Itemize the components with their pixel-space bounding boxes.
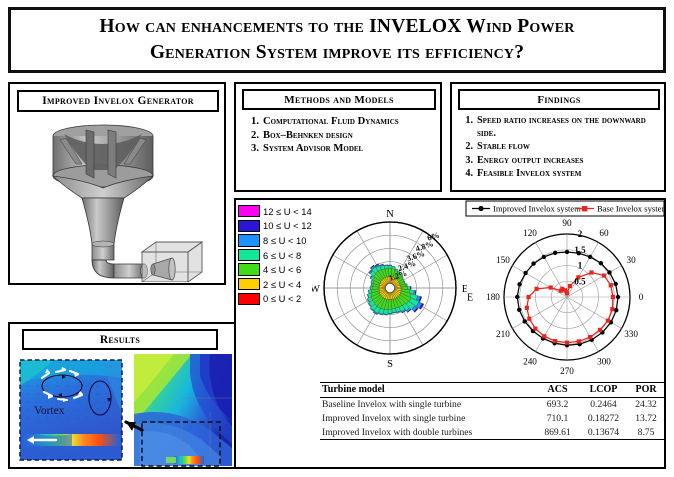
list-item: 1. Speed ratio increases on the downward… — [460, 114, 658, 140]
col-header-por: POR — [628, 383, 664, 398]
legend-swatch — [238, 234, 260, 246]
poster-root: How can enhancements to the INVELOX Wind… — [0, 0, 674, 477]
polar-marker — [515, 295, 519, 299]
polar-marker — [599, 261, 603, 265]
polar-marker — [553, 339, 557, 343]
polar-line-base — [527, 273, 613, 343]
results-table-wrapper: Turbine model ACS LCOP POR Baseline Inve… — [320, 382, 664, 466]
polar-marker — [525, 306, 529, 310]
polar-speed-ratio-chart: Improved Invelox systemBase Invelox syst… — [464, 200, 666, 375]
polar-marker — [542, 255, 546, 259]
polar-radial-label: 1.5 — [574, 245, 586, 255]
polar-marker — [533, 327, 537, 331]
title-panel: How can enhancements to the INVELOX Wind… — [8, 7, 666, 73]
item-text: Speed ratio increases on the downward si… — [477, 114, 658, 140]
polar-marker — [606, 319, 610, 323]
polar-marker — [549, 285, 553, 289]
polar-angle-label: 240 — [523, 356, 537, 366]
polar-east-label: E — [467, 292, 473, 303]
polar-angle-label: 60 — [599, 228, 609, 238]
legend-label: 10 ≤ U < 12 — [263, 220, 312, 231]
list-item: 3. System Advisor Model — [246, 142, 434, 156]
polar-angle-label: 150 — [496, 255, 510, 265]
legend-label: 12 ≤ U < 14 — [263, 206, 312, 217]
polar-radial-label: 1 — [578, 261, 583, 271]
findings-panel: Findings 1. Speed ratio increases on the… — [450, 82, 666, 192]
item-number: 1. — [460, 114, 473, 127]
item-number: 1. — [246, 115, 259, 129]
polar-marker — [517, 282, 521, 286]
polar-marker — [610, 307, 614, 311]
polar-angle-label: 30 — [626, 255, 636, 265]
wind-rose-chart: NESW1.2%2.4%3.6%4.8%6% — [312, 202, 467, 372]
polar-angle-label: 330 — [624, 329, 638, 339]
polar-marker — [609, 283, 613, 287]
results-heading-box: Results — [22, 329, 218, 350]
polar-marker — [523, 271, 527, 275]
polar-marker — [598, 328, 602, 332]
compass-label-s: S — [387, 359, 393, 370]
cell-acs: 869.61 — [536, 425, 579, 439]
cell-lcop: 0.2464 — [579, 397, 628, 411]
invelox-3d-model-figure — [20, 114, 218, 282]
title-line-1: How can enhancements to the INVELOX Wind… — [99, 14, 574, 40]
polar-angle-label: 180 — [486, 292, 500, 302]
item-number: 2. — [246, 129, 259, 143]
polar-marker — [588, 255, 592, 259]
legend-label-improved: Improved Invelox system — [493, 204, 581, 214]
legend-label: 0 ≤ U < 2 — [263, 293, 301, 304]
polar-radial-label: 0.5 — [574, 276, 586, 286]
polar-marker — [565, 250, 569, 254]
item-number: 3. — [460, 154, 473, 167]
methods-panel: Methods and Models 1. Computational Flui… — [234, 82, 442, 192]
item-text: Computational Fluid Dynamics — [263, 115, 399, 129]
cfd-vortex-detail: Vortex — [20, 360, 122, 460]
polar-angle-label: 210 — [496, 329, 510, 339]
list-item: 3. Energy output increases — [460, 154, 658, 167]
polar-angle-label: 90 — [562, 218, 572, 228]
polar-marker — [559, 289, 563, 293]
polar-marker — [616, 295, 620, 299]
polar-marker — [553, 251, 557, 255]
compass-label-n: N — [386, 209, 394, 220]
polar-legend: Improved Invelox systemBase Invelox syst… — [466, 201, 666, 216]
cell-por: 8.75 — [628, 425, 664, 439]
polar-marker — [614, 308, 618, 312]
polar-marker — [517, 308, 521, 312]
cell-por: 13.72 — [628, 412, 664, 426]
cell-por: 24.32 — [628, 397, 664, 411]
item-number: 2. — [460, 140, 473, 153]
polar-angle-label: 0 — [639, 292, 644, 302]
legend-label: 6 ≤ U < 8 — [263, 250, 301, 261]
item-text: System Advisor Model — [263, 142, 363, 156]
cell-acs: 693.2 — [536, 397, 579, 411]
cell-lcop: 0.18272 — [579, 412, 628, 426]
page-title: How can enhancements to the INVELOX Wind… — [11, 10, 663, 70]
methods-heading: Methods and Models — [284, 94, 393, 106]
findings-list: 1. Speed ratio increases on the downward… — [460, 114, 658, 180]
legend-swatch — [238, 249, 260, 261]
table-row: Baseline Invelox with single turbine 693… — [320, 397, 664, 411]
list-item: 4. Feasible Invelox system — [460, 167, 658, 180]
legend-marker-base — [582, 206, 587, 211]
polar-angle-label: 270 — [560, 366, 574, 375]
legend-label: 2 ≤ U < 4 — [263, 279, 301, 290]
cell-model: Improved Invelox with double turbines — [320, 425, 536, 439]
table-row: Improved Invelox with double turbines 86… — [320, 425, 664, 439]
list-item: 2. Stable flow — [460, 140, 658, 153]
legend-label-base: Base Invelox system — [597, 204, 666, 214]
item-text: Feasible Invelox system — [477, 167, 581, 180]
cell-acs: 710.1 — [536, 412, 579, 426]
vortex-label: Vortex — [34, 405, 65, 417]
legend-swatch — [238, 205, 260, 217]
cfd-results-figure: Vortex — [14, 352, 234, 468]
polar-marker — [607, 270, 611, 274]
list-item: 2. Box–Behnken design — [246, 129, 434, 143]
legend-label: 8 ≤ U < 10 — [263, 235, 306, 246]
title-line-2: Generation System improve its efficiency… — [150, 40, 524, 66]
item-text: Stable flow — [477, 140, 530, 153]
legend-swatch — [238, 278, 260, 290]
legend-marker-improved — [478, 206, 483, 211]
polar-marker — [527, 317, 531, 321]
cfd-full-contour — [134, 354, 232, 466]
cell-model: Baseline Invelox with single turbine — [320, 397, 536, 411]
polar-angle-label: 120 — [523, 228, 537, 238]
table-row: Improved Invelox with single turbine 710… — [320, 412, 664, 426]
findings-heading: Findings — [537, 94, 580, 106]
polar-marker — [577, 339, 581, 343]
legend-label: 4 ≤ U < 6 — [263, 264, 301, 275]
polar-marker — [542, 334, 546, 338]
polar-marker — [526, 295, 530, 299]
cell-model: Improved Invelox with single turbine — [320, 412, 536, 426]
generator-heading-box: Improved Invelox Generator — [17, 90, 219, 112]
col-header-model: Turbine model — [320, 383, 536, 398]
cell-lcop: 0.13674 — [579, 425, 628, 439]
compass-label-w: W — [312, 284, 320, 295]
radial-tick-label: 6% — [426, 230, 440, 242]
item-number: 3. — [246, 142, 259, 156]
polar-marker — [588, 335, 592, 339]
col-header-lcop: LCOP — [579, 383, 628, 398]
item-number: 4. — [460, 167, 473, 180]
polar-marker — [523, 319, 527, 323]
polar-angle-label: 300 — [597, 356, 611, 366]
findings-heading-box: Findings — [458, 89, 660, 110]
polar-marker — [589, 270, 593, 274]
methods-heading-box: Methods and Models — [242, 89, 436, 110]
col-header-acs: ACS — [536, 383, 579, 398]
polar-marker — [565, 341, 569, 345]
legend-swatch — [238, 263, 260, 275]
methods-list: 1. Computational Fluid Dynamics 2. Box–B… — [246, 115, 434, 156]
legend-swatch — [238, 220, 260, 232]
polar-marker — [531, 261, 535, 265]
results-heading: Results — [100, 334, 140, 346]
polar-marker — [611, 295, 615, 299]
item-text: Box–Behnken design — [263, 129, 353, 143]
polar-radial-label: 2 — [578, 229, 583, 239]
legend-swatch — [238, 293, 260, 305]
polar-marker — [613, 282, 617, 286]
results-panel: Results — [8, 322, 236, 469]
polar-marker — [602, 273, 606, 277]
generator-heading: Improved Invelox Generator — [42, 95, 194, 107]
item-text: Energy output increases — [477, 154, 583, 167]
charts-panel: 12 ≤ U < 14 10 ≤ U < 12 8 ≤ U < 10 6 ≤ U… — [234, 198, 666, 469]
turbine-comparison-table: Turbine model ACS LCOP POR Baseline Inve… — [320, 382, 664, 440]
table-header-row: Turbine model ACS LCOP POR — [320, 383, 664, 398]
list-item: 1. Computational Fluid Dynamics — [246, 115, 434, 129]
polar-marker — [568, 284, 572, 288]
generator-panel: Improved Invelox Generator — [8, 82, 226, 285]
polar-marker — [534, 287, 538, 291]
